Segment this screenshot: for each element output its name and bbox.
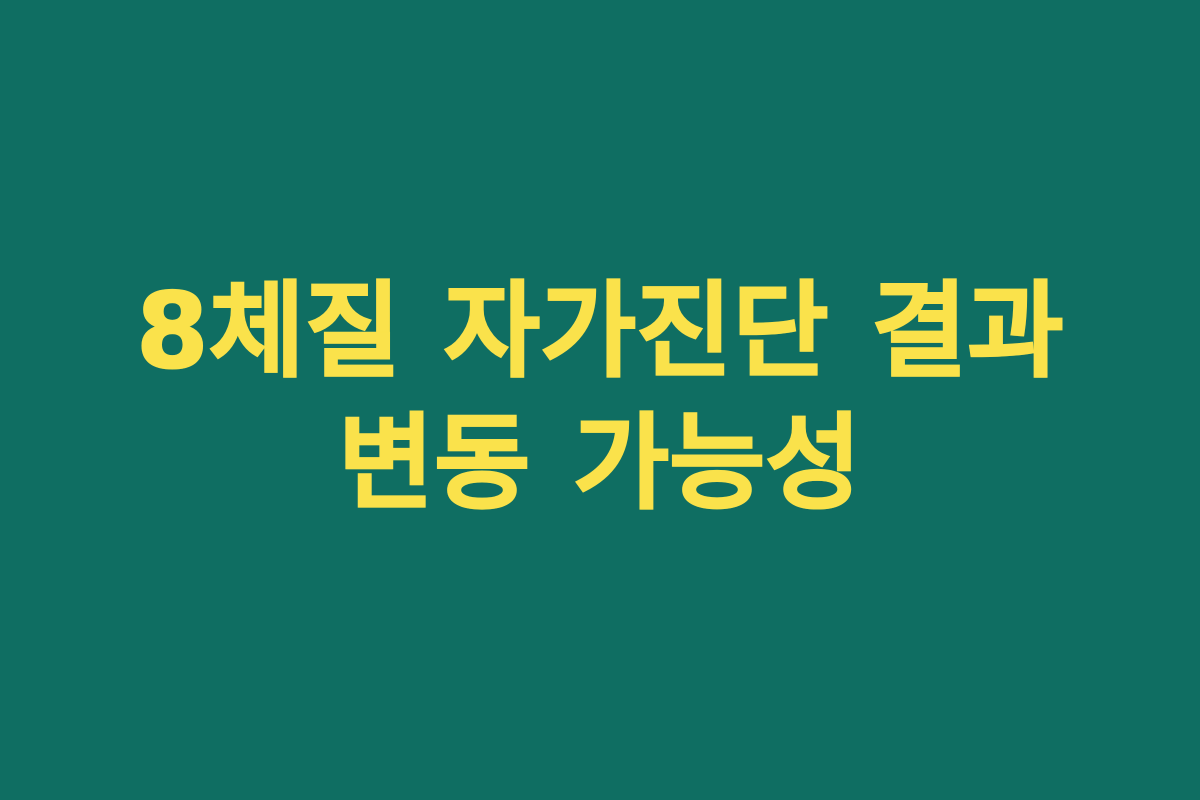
banner-text-block: 8체질 자가진단 결과 변동 가능성 bbox=[95, 265, 1105, 529]
page-title: 8체질 자가진단 결과 변동 가능성 bbox=[95, 265, 1105, 529]
banner-canvas: 8체질 자가진단 결과 변동 가능성 bbox=[0, 0, 1200, 800]
